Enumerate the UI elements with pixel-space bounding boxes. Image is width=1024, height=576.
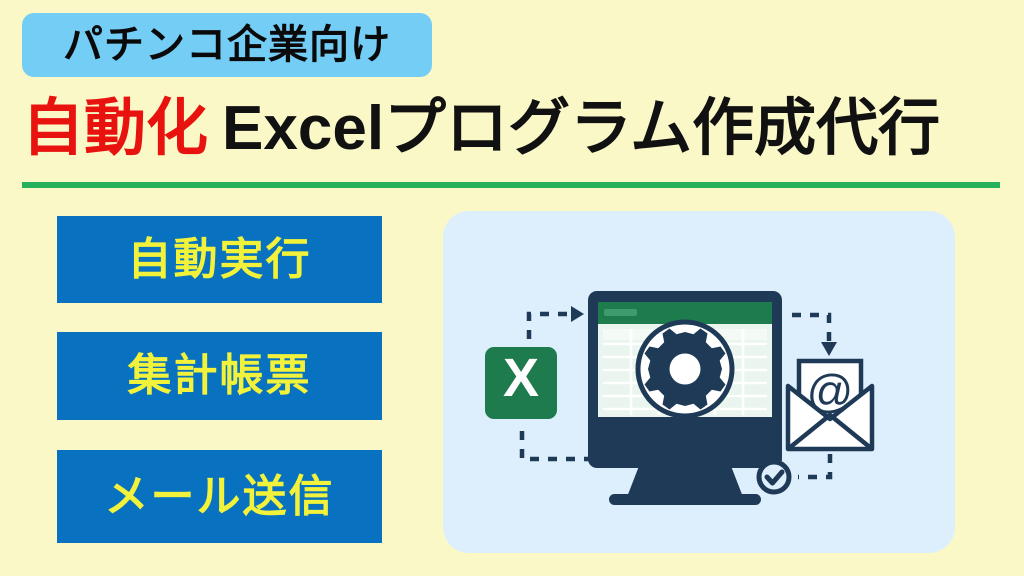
connector-bottom-loop-icon xyxy=(522,431,599,459)
badge-label: パチンコ企業向け xyxy=(63,25,391,65)
headline-main-text: Excelプログラム作成代行 xyxy=(222,98,940,160)
feature-box-mail-send: メール送信 xyxy=(57,450,382,543)
feature-label: メール送信 xyxy=(105,475,335,519)
headline-accent-text: 自動化 xyxy=(22,98,208,160)
feature-label: 自動実行 xyxy=(128,238,312,282)
automation-illustration-panel: X xyxy=(443,211,955,553)
check-circle-icon xyxy=(759,462,789,492)
arrowhead-down-icon xyxy=(821,342,837,356)
page-title: 自動化 Excelプログラム作成代行 xyxy=(22,88,1012,170)
email-envelope-icon: @ xyxy=(788,361,872,449)
arrowhead-right-icon xyxy=(571,306,584,322)
connector-envelope-to-check-icon xyxy=(798,454,830,477)
green-rule-divider xyxy=(22,182,1000,188)
svg-text:X: X xyxy=(503,348,539,408)
automation-flow-diagram: X xyxy=(443,211,955,553)
connector-monitor-to-envelope-icon xyxy=(792,315,829,344)
feature-label: 集計帳票 xyxy=(128,354,312,398)
excel-file-icon: X xyxy=(485,347,557,419)
feature-box-auto-run: 自動実行 xyxy=(57,216,382,303)
target-audience-badge: パチンコ企業向け xyxy=(22,13,432,77)
monitor-icon xyxy=(588,291,782,505)
feature-box-aggregate-report: 集計帳票 xyxy=(57,332,382,420)
